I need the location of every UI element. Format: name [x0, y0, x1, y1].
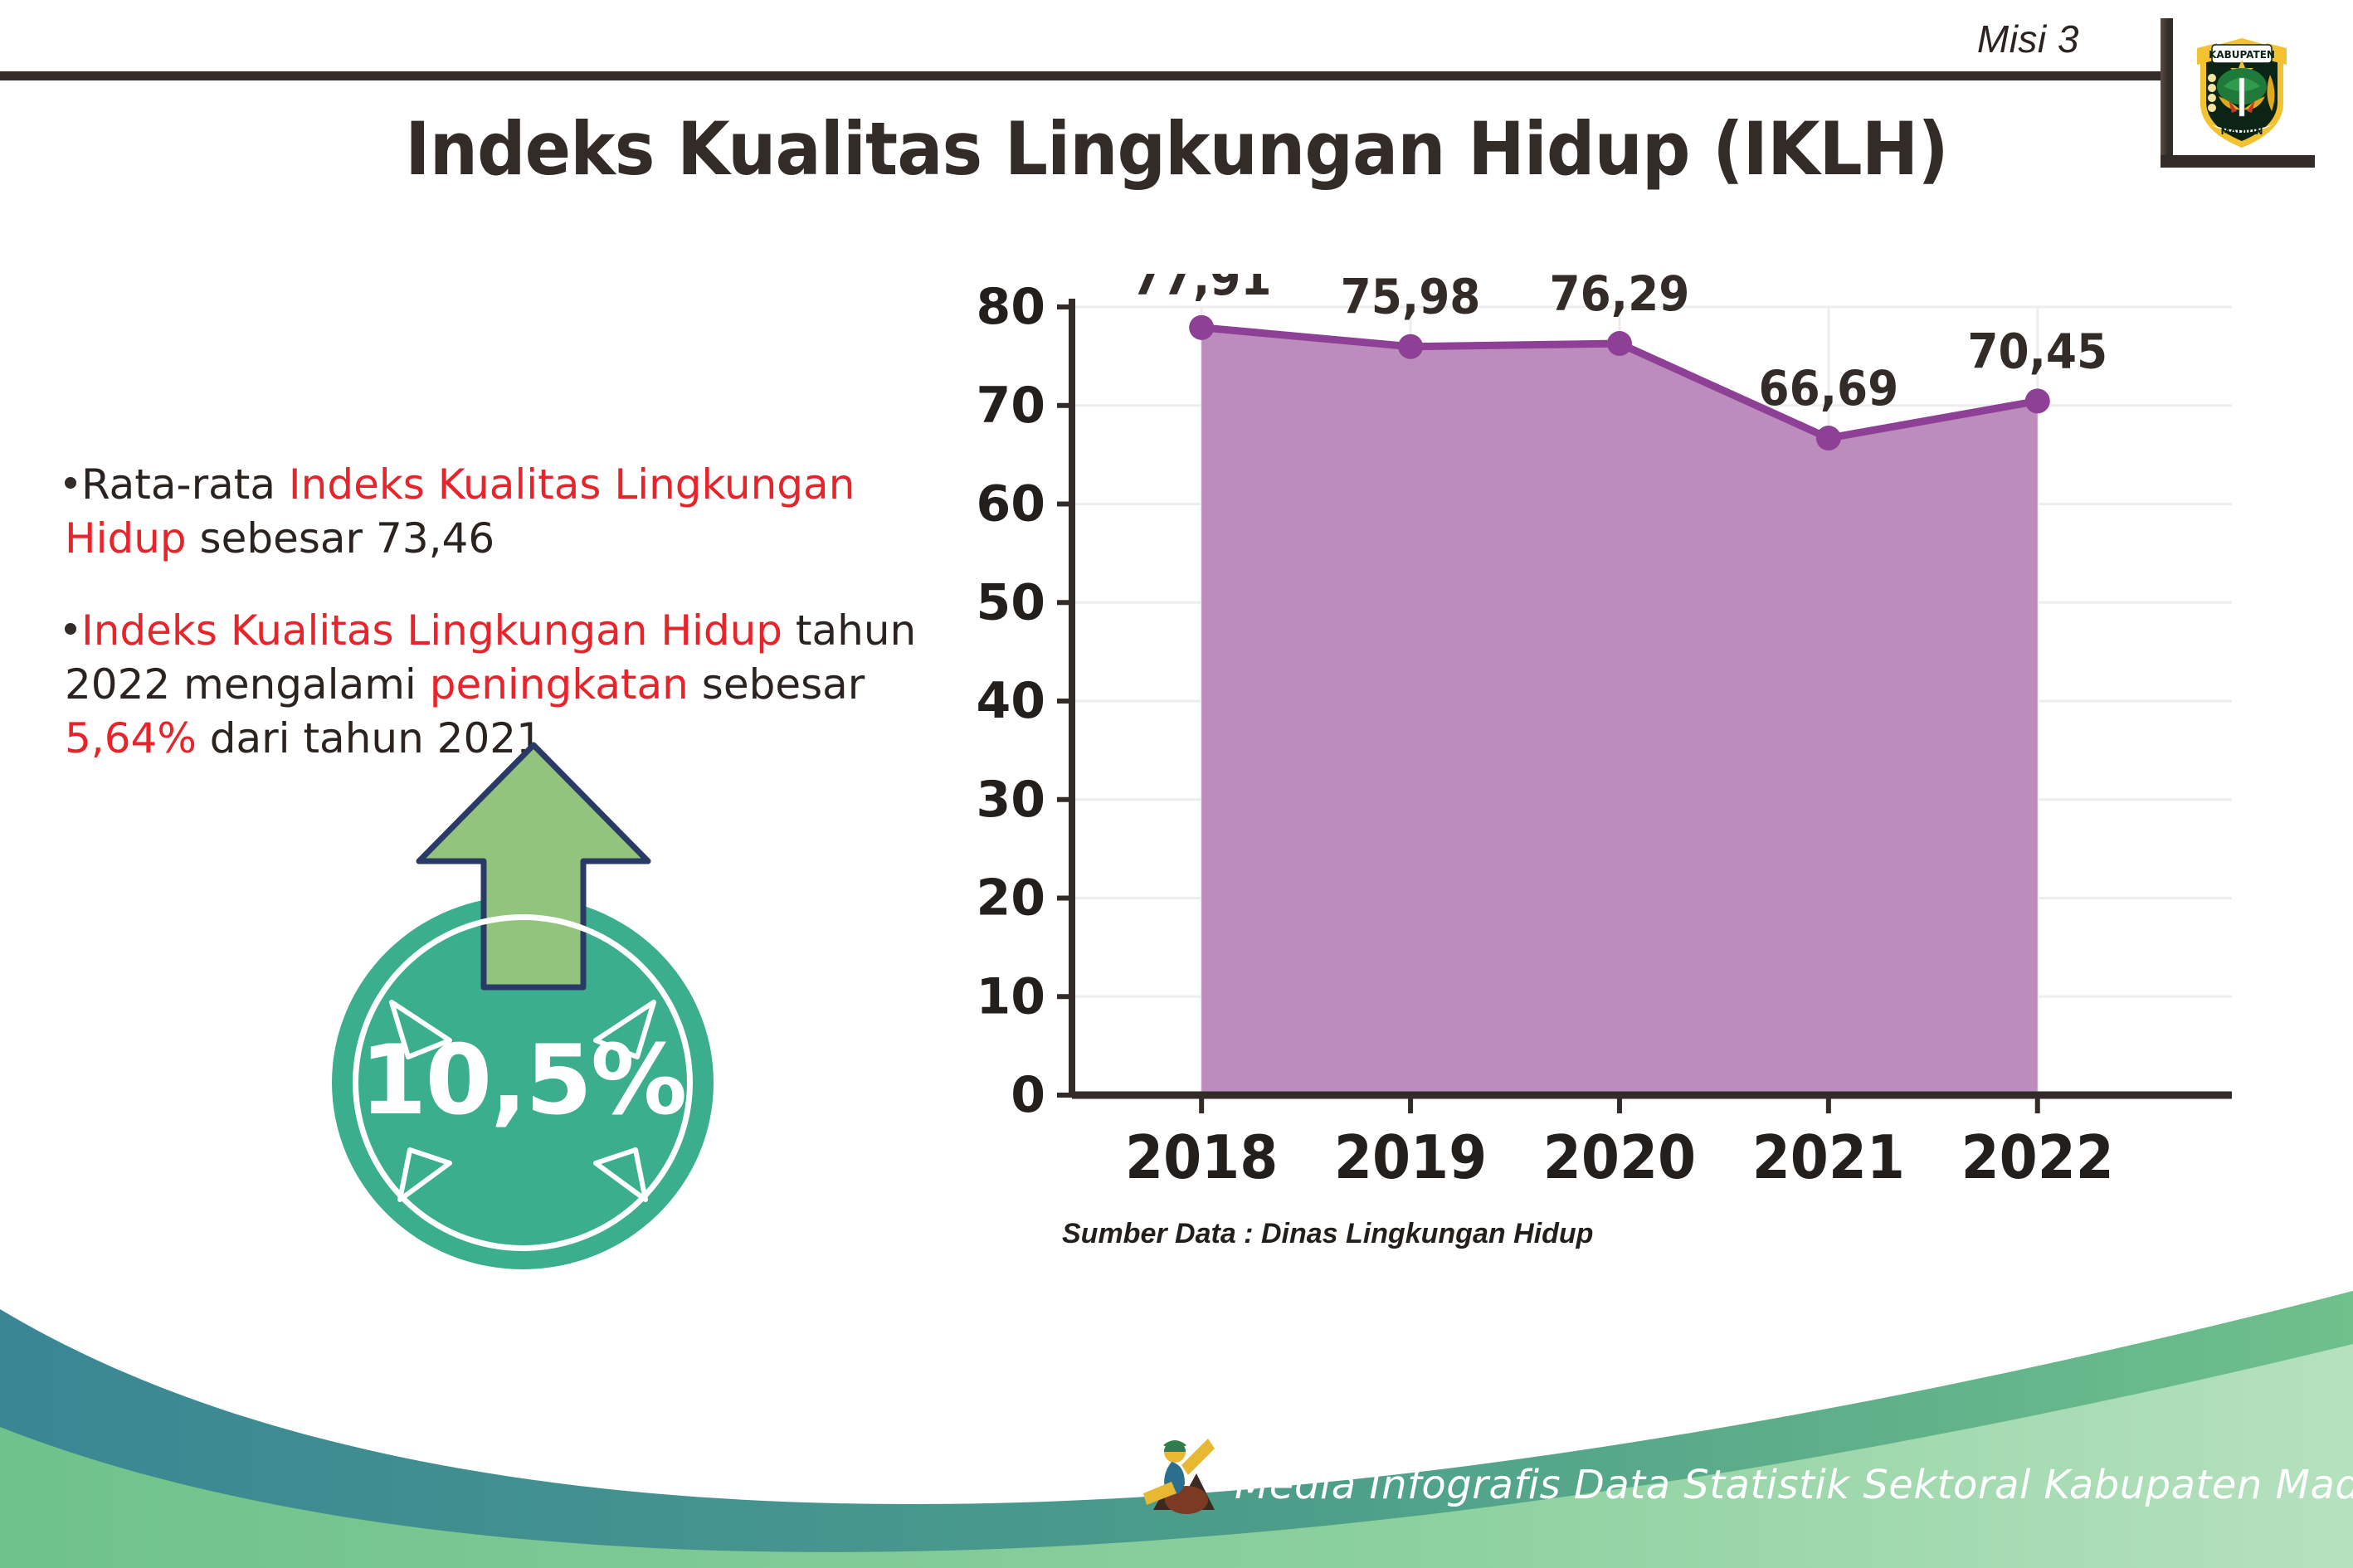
data-point-marker[interactable]: [1607, 331, 1632, 356]
footer-banner: Media Infografis Data Statistik Sektoral…: [0, 1220, 2353, 1568]
y-axis-tick-label: 70: [977, 377, 1046, 435]
header-divider-rule: [0, 71, 2165, 80]
y-axis-tick-label: 60: [977, 475, 1046, 533]
x-axis-tick-label: 2021: [1752, 1123, 1905, 1192]
data-point-marker[interactable]: [1816, 426, 1841, 450]
data-point-marker[interactable]: [1189, 315, 1214, 340]
y-axis-tick-label: 0: [1011, 1066, 1045, 1124]
bullet-2-highlight-1: Indeks Kualitas Lingkungan Hidup: [81, 606, 782, 655]
data-point-label: 77,91: [1132, 274, 1272, 306]
chart-area-fill: [1201, 328, 2038, 1095]
bullet-2-text-part-4: sebesar: [689, 660, 865, 709]
statistics-figure-logo-icon: [1138, 1430, 1221, 1538]
y-axis-tick-label: 20: [977, 869, 1046, 928]
data-point-marker[interactable]: [1398, 334, 1423, 359]
chart-canvas: 77,9175,9876,2966,6970,45010203040506070…: [954, 274, 2248, 1286]
x-axis-tick-label: 2019: [1334, 1123, 1487, 1192]
y-axis-tick-label: 50: [977, 573, 1046, 631]
data-point-label: 75,98: [1341, 274, 1481, 325]
y-axis-tick-label: 30: [977, 771, 1046, 829]
bullet-1-text-part-1: Rata-rata: [81, 460, 289, 509]
data-point-label: 66,69: [1758, 361, 1898, 417]
data-point-label: 76,29: [1550, 274, 1690, 323]
footer-caption: Media Infografis Data Statistik Sektoral…: [1235, 1462, 2353, 1508]
x-axis-tick-label: 2018: [1125, 1123, 1278, 1192]
narrative-block: Rata-rata Indeks Kualitas Lingkungan Hid…: [65, 458, 944, 766]
badge-value-label: 10,5%: [332, 1025, 714, 1137]
y-axis-tick-label: 10: [977, 967, 1046, 1025]
x-axis-tick-label: 2020: [1543, 1123, 1696, 1192]
bullet-2-highlight-3: 5,64%: [65, 714, 197, 762]
bullet-dot-icon: [65, 623, 76, 635]
x-axis-tick-label: 2022: [1961, 1123, 2114, 1192]
bullet-1-text-part-3: sebesar 73,46: [187, 514, 494, 562]
infographic-page: Misi 3 KABUPATEN MADIUN: [0, 0, 2353, 1568]
emblem-top-label: KABUPATEN: [2209, 49, 2275, 61]
data-point-marker[interactable]: [2025, 388, 2050, 413]
page-title: Indeks Kualitas Lingkungan Hidup (IKLH): [82, 106, 2270, 192]
y-axis-tick-label: 80: [977, 278, 1046, 336]
misi-label: Misi 3: [1977, 17, 2079, 61]
increase-badge: 10,5%: [315, 730, 747, 1195]
narrative-bullet-1: Rata-rata Indeks Kualitas Lingkungan Hid…: [65, 458, 944, 566]
bullet-dot-icon: [65, 477, 76, 489]
bullet-2-highlight-2: peningkatan: [430, 660, 689, 709]
y-axis-tick-label: 40: [977, 672, 1046, 730]
data-point-label: 70,45: [1967, 324, 2107, 380]
iklh-area-chart: 77,9175,9876,2966,6970,45010203040506070…: [954, 274, 2248, 1286]
